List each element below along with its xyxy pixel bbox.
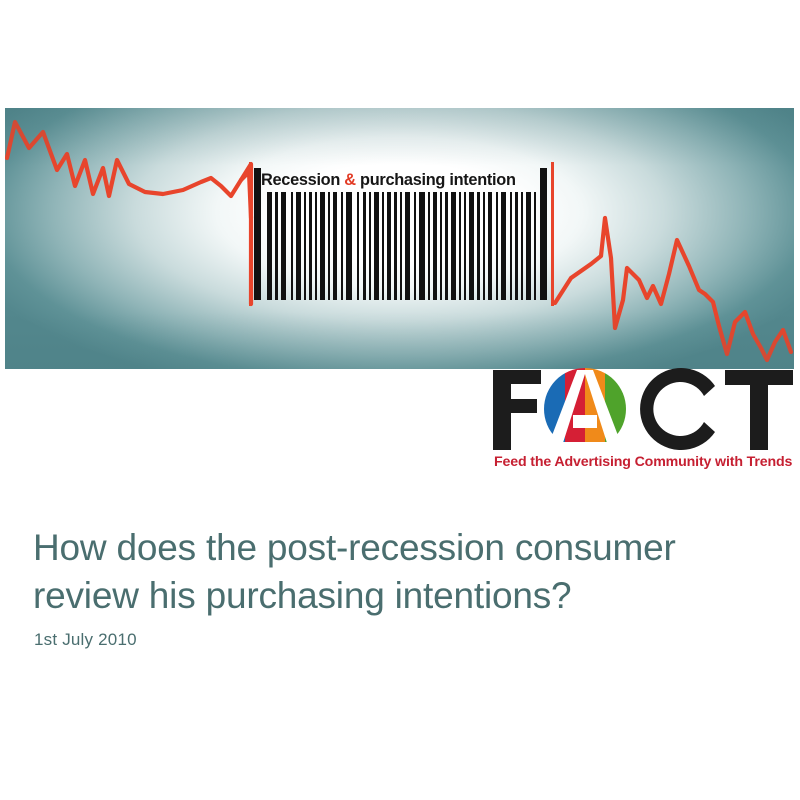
barcode-graphic: Recession & purchasing intention	[247, 168, 557, 300]
logo-letter-t	[725, 370, 793, 450]
barcode-bar	[382, 192, 384, 300]
barcode-bar	[433, 192, 437, 300]
barcode-bar	[275, 192, 278, 300]
barcode-bar	[291, 192, 293, 300]
barcode-bar	[328, 192, 330, 300]
slide-date: 1st July 2010	[34, 630, 137, 650]
barcode-bar	[374, 192, 379, 300]
fact-wordmark	[489, 368, 795, 450]
barcode-bar	[464, 192, 466, 300]
barcode-title-prefix: Recession	[261, 171, 344, 189]
barcode-bar	[369, 192, 371, 300]
barcode-bar	[477, 192, 480, 300]
barcode-bar	[445, 192, 448, 300]
barcode-bar	[510, 192, 512, 300]
trend-line-left	[7, 122, 251, 218]
barcode-bar	[267, 192, 272, 300]
barcode-bar	[394, 192, 397, 300]
barcode-bar	[451, 192, 456, 300]
trend-line-right	[555, 218, 791, 360]
barcode-bar	[333, 192, 337, 300]
barcode-bar	[405, 192, 410, 300]
barcode-bar	[501, 192, 506, 300]
barcode-bar	[515, 192, 518, 300]
barcode-bar	[341, 192, 343, 300]
barcode-bar	[346, 192, 352, 300]
barcode-bar	[296, 192, 301, 300]
barcode-bar	[363, 192, 366, 300]
fact-logo: Feed the Advertising Community with Tren…	[489, 368, 795, 480]
barcode-bar	[357, 192, 359, 300]
barcode-guard-left	[254, 168, 261, 300]
barcode-bar	[419, 192, 425, 300]
barcode-bar	[428, 192, 430, 300]
barcode-bar	[281, 192, 286, 300]
barcode-title-text: Recession & purchasing intention	[261, 168, 546, 193]
barcode-title-ampersand: &	[344, 171, 356, 189]
slide-title-line-1: How does the post-recession consumer	[33, 527, 676, 568]
logo-letter-f	[493, 370, 541, 450]
barcode-bar	[400, 192, 402, 300]
barcode-bar	[469, 192, 474, 300]
slide-title: How does the post-recession consumer rev…	[33, 524, 763, 620]
barcode-bar	[315, 192, 317, 300]
barcode-bar	[320, 192, 325, 300]
barcode-bar	[304, 192, 306, 300]
fact-tagline: Feed the Advertising Community with Tren…	[494, 454, 794, 470]
barcode-bar	[387, 192, 391, 300]
barcode-bar	[459, 192, 461, 300]
title-banner-image: Recession & purchasing intention	[5, 108, 794, 369]
presentation-slide: Recession & purchasing intention	[0, 0, 800, 800]
barcode-bar	[534, 192, 536, 300]
barcode-bar	[309, 192, 312, 300]
barcode-bar	[496, 192, 498, 300]
logo-letter-a-baseline-gap	[543, 442, 627, 450]
barcode-bar	[488, 192, 492, 300]
barcode-red-line-left	[249, 162, 252, 306]
barcode-bar	[526, 192, 531, 300]
barcode-bar	[414, 192, 416, 300]
barcode-red-line-right	[551, 162, 554, 306]
barcode-title-suffix: purchasing intention	[356, 171, 516, 189]
slide-title-line-2: review his purchasing intentions?	[33, 572, 763, 620]
barcode-bar	[440, 192, 442, 300]
barcode-bar	[483, 192, 485, 300]
barcode-bar	[521, 192, 523, 300]
